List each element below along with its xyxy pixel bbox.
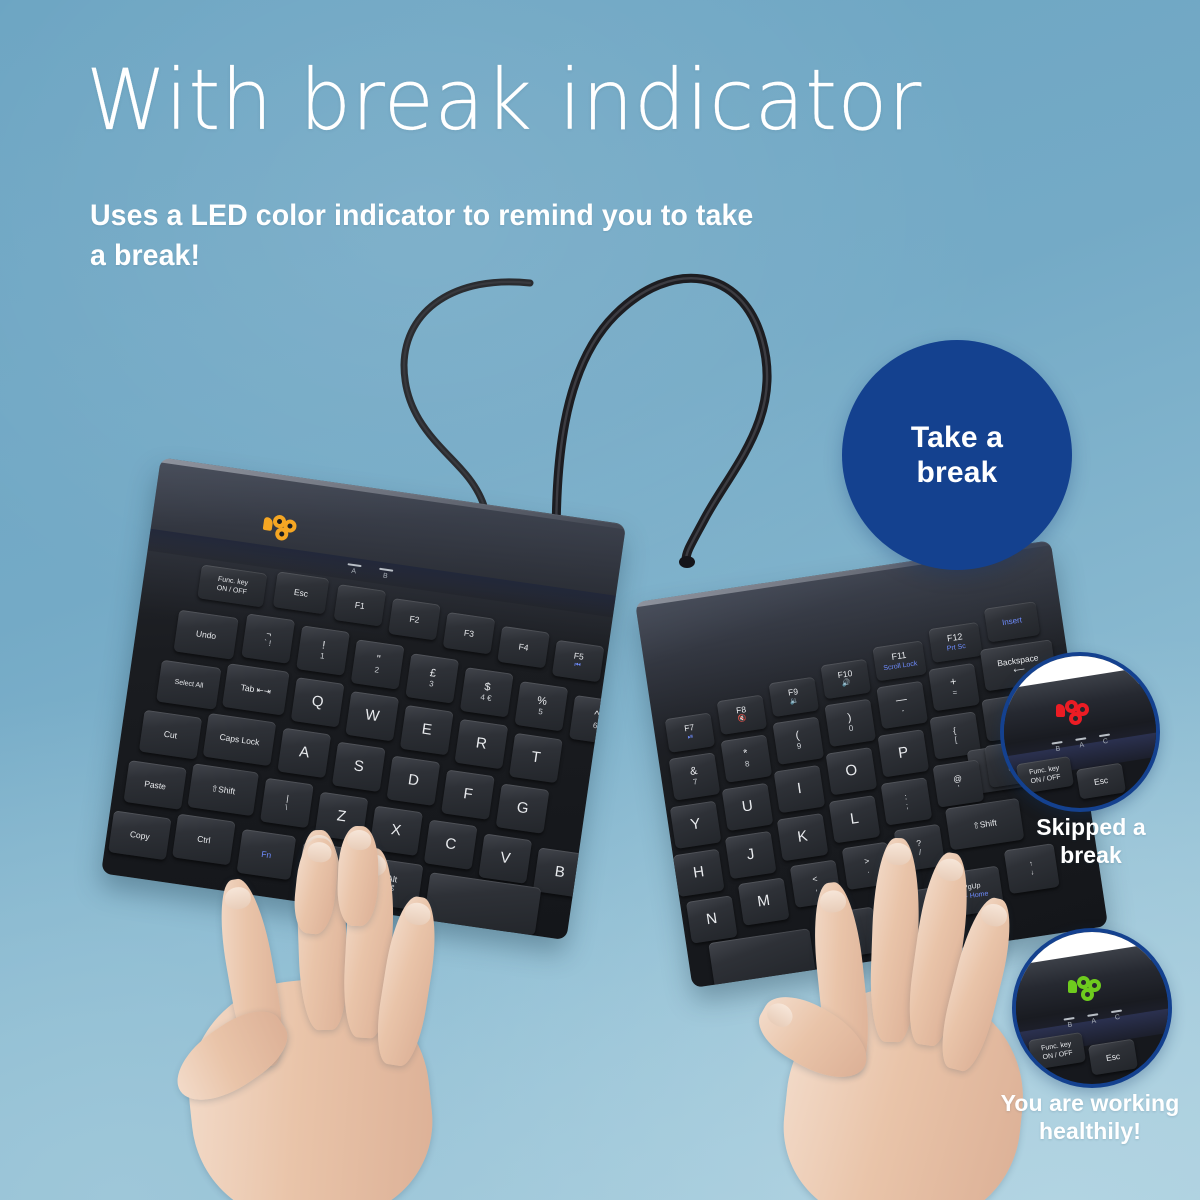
key-9[interactable]: (9 — [772, 717, 824, 765]
badge-line-2: break — [911, 455, 1003, 490]
key-y[interactable]: Y — [670, 801, 722, 849]
key-grave[interactable]: ¬` ! — [241, 613, 295, 663]
key-esc[interactable]: Esc — [273, 571, 330, 614]
key-2[interactable]: "2 — [351, 639, 405, 689]
key-f9[interactable]: F9🔉 — [769, 677, 820, 717]
key-f10[interactable]: F10🔊 — [820, 659, 871, 699]
key-shift-left[interactable]: ⇧Shift — [187, 763, 259, 816]
key-t[interactable]: T — [509, 733, 563, 783]
key-esc-zoom-2[interactable]: Esc — [1088, 1039, 1138, 1076]
key-s[interactable]: S — [332, 742, 386, 792]
key-f7[interactable]: F7⏯ — [665, 712, 716, 752]
key-f[interactable]: F — [441, 769, 495, 819]
key-caps-lock[interactable]: Caps Lock — [203, 713, 277, 766]
key-g[interactable]: G — [496, 783, 550, 833]
key-i[interactable]: I — [774, 765, 826, 813]
take-a-break-badge[interactable]: Take a break — [842, 340, 1072, 570]
callout-skipped-break: B A C Func. key ON / OFF Esc Skipped a b… — [998, 652, 1184, 872]
key-l[interactable]: L — [829, 795, 881, 843]
key-semicolon[interactable]: :; — [881, 777, 933, 825]
key-n[interactable]: N — [686, 895, 738, 943]
r-go-tools-logo-green — [1068, 976, 1098, 999]
key-f2[interactable]: F2 — [388, 598, 441, 640]
key-f1[interactable]: F1 — [334, 584, 387, 626]
key-backslash[interactable]: |\ — [260, 778, 314, 828]
key-minus[interactable]: —- — [876, 681, 928, 729]
key-3[interactable]: £3 — [405, 653, 459, 703]
key-0[interactable]: )0 — [824, 699, 876, 747]
key-q[interactable]: Q — [291, 677, 345, 727]
key-d[interactable]: D — [387, 756, 441, 806]
r-go-tools-logo — [261, 513, 298, 544]
page-subtitle: Uses a LED color indicator to remind you… — [90, 196, 755, 275]
key-8[interactable]: *8 — [721, 734, 773, 782]
key-copy[interactable]: Copy — [108, 810, 171, 860]
key-4[interactable]: $4 € — [460, 667, 514, 717]
poster-canvas: A B Func. keyON / OFF Undo Select All Cu… — [0, 0, 1200, 1200]
key-1[interactable]: !1 — [296, 625, 350, 675]
page-title: With break indicator — [86, 58, 922, 142]
key-f5[interactable]: F5⏮ — [552, 640, 605, 682]
key-select-all[interactable]: Select All — [156, 660, 221, 710]
key-f8[interactable]: F8🔇 — [717, 695, 768, 735]
key-e[interactable]: E — [400, 705, 454, 755]
key-h[interactable]: H — [673, 849, 725, 897]
key-7[interactable]: &7 — [669, 752, 721, 800]
key-esc-zoom[interactable]: Esc — [1076, 763, 1126, 800]
r-go-tools-logo-red — [1056, 700, 1086, 723]
key-w[interactable]: W — [345, 691, 399, 741]
key-equals[interactable]: += — [928, 663, 980, 711]
key-p[interactable]: P — [877, 729, 929, 777]
key-o[interactable]: O — [826, 747, 878, 795]
magnifier-lens-green[interactable]: B A C Func. key ON / OFF Esc — [1012, 928, 1172, 1088]
key-paste[interactable]: Paste — [123, 760, 186, 810]
key-f4[interactable]: F4 — [497, 626, 550, 668]
key-apostrophe[interactable]: @' — [933, 759, 985, 807]
key-a[interactable]: A — [277, 728, 331, 778]
key-tab[interactable]: Tab ⇤⇥ — [222, 663, 290, 715]
callout-label-healthily: You are working healthily! — [990, 1090, 1190, 1145]
callout-working-healthily: B A C Func. key ON / OFF Esc You are wor… — [990, 928, 1190, 1158]
left-hand-typing-fingers — [290, 826, 420, 946]
key-cut[interactable]: Cut — [139, 710, 202, 760]
badge-line-1: Take a — [911, 420, 1003, 455]
key-r[interactable]: R — [454, 719, 508, 769]
magnifier-lens-red[interactable]: B A C Func. key ON / OFF Esc — [1000, 652, 1160, 812]
key-u[interactable]: U — [722, 783, 774, 831]
key-undo[interactable]: Undo — [173, 610, 238, 660]
callout-label-skipped: Skipped a break — [998, 814, 1184, 869]
key-f3[interactable]: F3 — [443, 612, 496, 654]
key-5[interactable]: %5 — [514, 681, 568, 731]
